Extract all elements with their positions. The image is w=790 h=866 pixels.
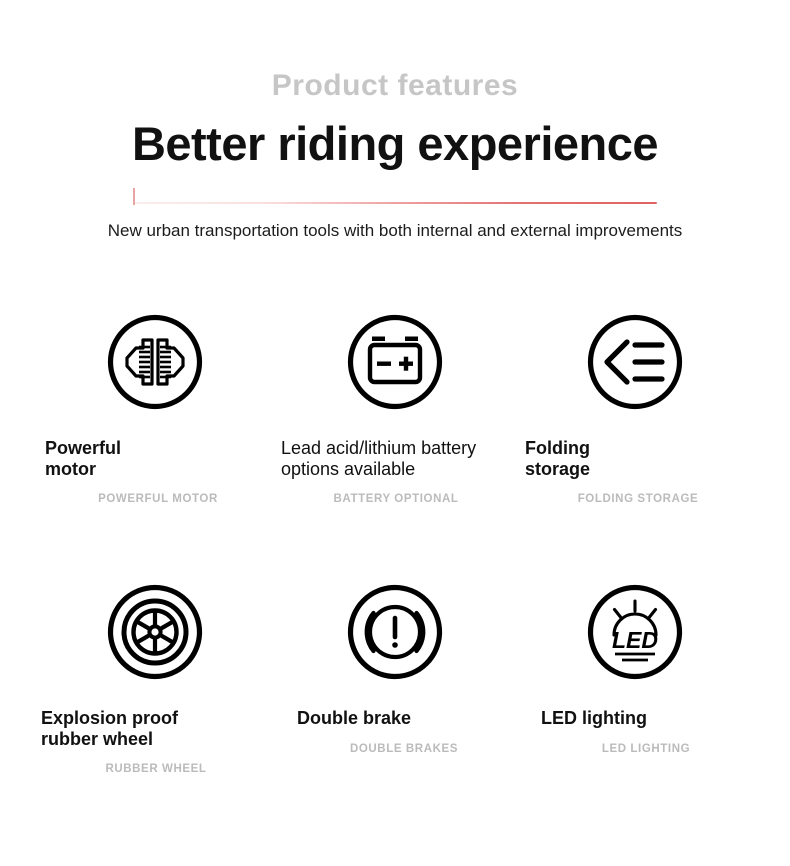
product-features-page: Product features Better riding experienc… (0, 0, 790, 866)
eyebrow-title: Product features (0, 68, 790, 104)
header-divider (133, 188, 657, 206)
motor-icon (105, 312, 205, 412)
feature-card-folding-storage: Folding storage FOLDING STORAGE (515, 312, 755, 582)
feature-labels: Powerful motor POWERFUL MOTOR (35, 438, 275, 505)
feature-title: Folding storage (525, 438, 751, 480)
feature-caption: DOUBLE BRAKES (297, 743, 511, 755)
page-title: Better riding experience (0, 116, 790, 172)
feature-card-led-lighting: LED LED lighting LED LIGHTING (515, 582, 755, 852)
feature-labels: Explosion proof rubber wheel RUBBER WHEE… (35, 708, 275, 775)
battery-icon (345, 312, 445, 412)
feature-card-battery-optional: Lead acid/lithium battery options availa… (275, 312, 515, 582)
page-subtitle: New urban transportation tools with both… (0, 220, 790, 242)
feature-caption: FOLDING STORAGE (525, 493, 751, 505)
feature-caption: BATTERY OPTIONAL (281, 493, 511, 505)
header: Product features Better riding experienc… (0, 0, 790, 242)
brake-icon (345, 582, 445, 682)
led-icon: LED (585, 582, 685, 682)
folding-icon (585, 312, 685, 412)
feature-labels: LED lighting LED LIGHTING (515, 708, 755, 755)
feature-labels: Double brake DOUBLE BRAKES (275, 708, 515, 755)
feature-caption: RUBBER WHEEL (41, 763, 271, 775)
wheel-icon (105, 582, 205, 682)
feature-title: LED lighting (541, 708, 751, 729)
feature-labels: Lead acid/lithium battery options availa… (275, 438, 515, 505)
feature-title: Double brake (297, 708, 511, 729)
feature-grid: Powerful motor POWERFUL MOTOR Lead acid/… (35, 312, 755, 852)
feature-card-double-brake: Double brake DOUBLE BRAKES (275, 582, 515, 852)
feature-caption: POWERFUL MOTOR (45, 493, 271, 505)
feature-card-powerful-motor: Powerful motor POWERFUL MOTOR (35, 312, 275, 582)
svg-text:LED: LED (612, 627, 658, 653)
divider-line (133, 202, 657, 204)
feature-card-rubber-wheel: Explosion proof rubber wheel RUBBER WHEE… (35, 582, 275, 852)
feature-title: Lead acid/lithium battery options availa… (281, 438, 511, 480)
feature-labels: Folding storage FOLDING STORAGE (515, 438, 755, 505)
feature-title: Explosion proof rubber wheel (41, 708, 271, 750)
feature-caption: LED LIGHTING (541, 743, 751, 755)
feature-title: Powerful motor (45, 438, 271, 480)
